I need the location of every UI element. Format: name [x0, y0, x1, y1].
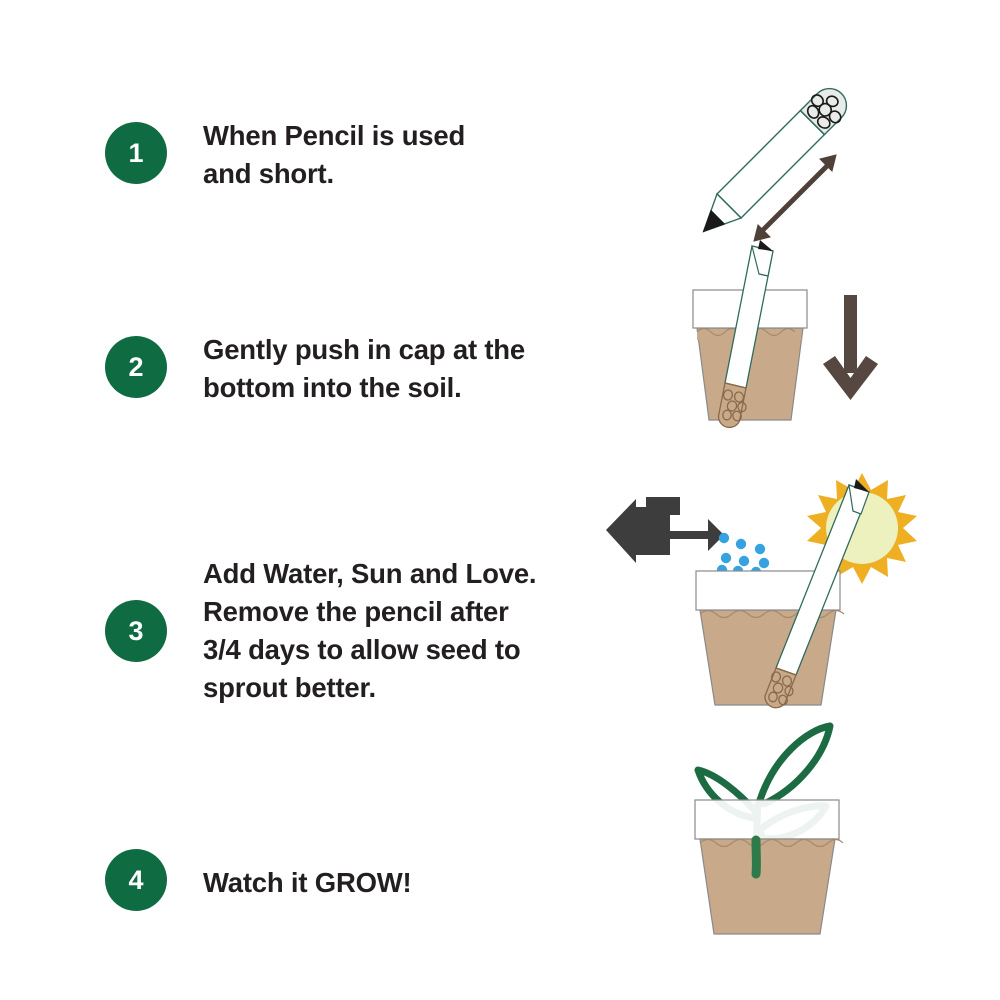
step-number-badge-2: 2 [105, 336, 167, 398]
step-text-4: Watch it GROW! [203, 864, 412, 902]
instruction-diagram: 1 When Pencil is used and short. [0, 0, 1000, 1000]
pencil-icon [650, 55, 900, 265]
illustration-step-1 [650, 55, 900, 265]
flower-pot-icon [695, 800, 843, 934]
down-arrow-icon [823, 295, 878, 400]
illustration-step-2 [655, 240, 915, 455]
illustration-step-3 [588, 455, 918, 720]
step-text-1: When Pencil is used and short. [203, 117, 465, 193]
step-number-badge-3: 3 [105, 600, 167, 662]
step-number-badge-4: 4 [105, 849, 167, 911]
illustration-step-4 [668, 712, 918, 947]
step-text-2: Gently push in cap at the bottom into th… [203, 331, 525, 407]
step-number-badge-1: 1 [105, 122, 167, 184]
step-text-3: Add Water, Sun and Love. Remove the penc… [203, 555, 536, 707]
watering-can-icon [606, 497, 724, 563]
